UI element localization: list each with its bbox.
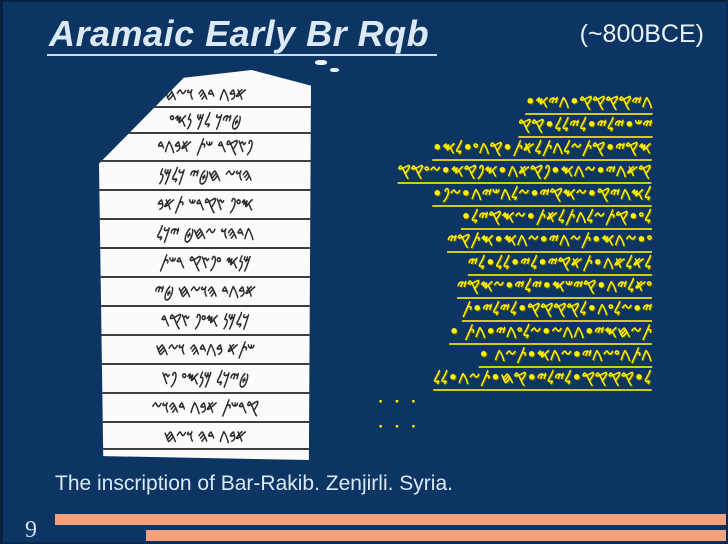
transcription-line: •𐤋𐤎𐤂𐤉𐤒•𐤆𐤎𐤒𐤉•𐤆𐤋𐤂𐤔𐤉𐤂•𐤆𐤐 (234, 182, 654, 205)
transcription-line: 𐤉•𐤆𐤋𐤏𐤂•𐤋𐤒𐤒𐤒𐤒•𐤋𐤉𐤋𐤉•𐤕 (234, 297, 654, 320)
transcription-line: •𐤂𐤉𐤒𐤒𐤒𐤒•𐤂𐤉𐤎 (234, 90, 654, 113)
transcription-text: 𐤒𐤀𐤂𐤉•𐤆𐤂𐤎•𐤐𐤒𐤀𐤂•𐤎𐤐𐤒𐤎•𐤆𐤏𐤒𐤒 (398, 159, 652, 184)
footer-accent-bar-bottom (146, 530, 726, 541)
transcription-ellipsis: · · · (234, 414, 654, 439)
transcription-text: •𐤂𐤉𐤒𐤒𐤒𐤒•𐤂𐤉𐤎 (525, 90, 652, 115)
transcription-text: • 𐤂𐤕𐤂𐤏𐤆𐤂𐤉•𐤆𐤂𐤎•𐤕𐤆𐤂 (479, 343, 652, 368)
transcription-text: 𐤉𐤔•𐤉𐤋𐤉•𐤋𐤉𐤋𐤋•𐤒𐤒 (518, 113, 652, 138)
transcription-text: •𐤋𐤏•𐤒𐤕𐤆𐤋𐤂𐤕𐤋𐤀𐤕•𐤆𐤎𐤒𐤉𐤋 (461, 205, 652, 230)
transcription-line: •𐤎𐤒𐤉•𐤒𐤕𐤆𐤋𐤂𐤕𐤋𐤀𐤕•𐤒𐤂𐤏•𐤋𐤎 (234, 136, 654, 159)
image-caption: The inscription of Bar-Rakib. Zenjirli. … (55, 472, 453, 496)
transcription-block: •𐤂𐤉𐤒𐤒𐤒𐤒•𐤂𐤉𐤎 𐤉𐤔•𐤉𐤋𐤉•𐤋𐤉𐤋𐤋•𐤒𐤒 •𐤎𐤒𐤉•𐤒𐤕𐤆𐤋𐤂𐤕𐤋𐤀… (234, 90, 654, 439)
transcription-text: 𐤋𐤀𐤋𐤀𐤂•𐤕𐤀𐤒𐤉•𐤋𐤉•𐤋𐤋•𐤋𐤉 (468, 251, 652, 276)
page-number: 9 (25, 517, 37, 544)
transcription-line: 𐤉𐤔•𐤉𐤋𐤉•𐤋𐤉𐤋𐤋•𐤒𐤒 (234, 113, 654, 136)
transcription-text: 𐤏𐤀𐤋𐤉𐤂•𐤒𐤉𐤔𐤎•𐤉𐤋𐤉•𐤆𐤎𐤒𐤉 (457, 274, 652, 299)
slide-canvas: Aramaic Early Br Rqb (~800BCE) 𐤀𐤁𐤂 𐤃𐤄 𐤅𐤆… (0, 0, 728, 544)
transcription-text: • 𐤕𐤆𐤇𐤎𐤉•𐤂𐤂𐤆•𐤆𐤋𐤏𐤂𐤉•𐤂𐤕 (449, 320, 652, 345)
transcription-line: 𐤒𐤀𐤂𐤉•𐤆𐤂𐤎•𐤐𐤒𐤀𐤂•𐤎𐤐𐤒𐤎•𐤆𐤏𐤒𐤒 (234, 159, 654, 182)
transcription-text: 𐤋•𐤒𐤒𐤒𐤒•𐤋𐤉𐤋𐤉•𐤒𐤇•𐤕𐤆𐤂•𐤋𐤋 (434, 366, 652, 391)
transcription-line: • 𐤕𐤆𐤇𐤎𐤉•𐤂𐤂𐤆•𐤆𐤋𐤏𐤂𐤉•𐤂𐤕 (234, 320, 654, 343)
date-annotation: (~800BCE) (580, 20, 704, 49)
stele-rule (99, 448, 311, 450)
page-title: Aramaic Early Br Rqb (49, 13, 429, 55)
transcription-line: •𐤋𐤏•𐤒𐤕𐤆𐤋𐤂𐤕𐤋𐤀𐤕•𐤆𐤎𐤒𐤉𐤋 (234, 205, 654, 228)
image-artifact-speck (315, 60, 327, 65)
image-artifact-speck (330, 68, 339, 72)
transcription-line: 𐤋•𐤒𐤒𐤒𐤒•𐤋𐤉𐤋𐤉•𐤒𐤇•𐤕𐤆𐤂•𐤋𐤋 (234, 366, 654, 389)
transcription-text: •𐤎𐤒𐤉•𐤒𐤕𐤆𐤋𐤂𐤕𐤋𐤀𐤕•𐤒𐤂𐤏•𐤋𐤎 (433, 136, 652, 161)
transcription-ellipsis: · · · (234, 389, 654, 414)
transcription-line: 𐤋𐤀𐤋𐤀𐤂•𐤕𐤀𐤒𐤉•𐤋𐤉•𐤋𐤋•𐤋𐤉 (234, 251, 654, 274)
transcription-line: 𐤏𐤀𐤋𐤉𐤂•𐤒𐤉𐤔𐤎•𐤉𐤋𐤉•𐤆𐤎𐤒𐤉 (234, 274, 654, 297)
transcription-text: •𐤋𐤎𐤂𐤉𐤒•𐤆𐤎𐤒𐤉•𐤆𐤋𐤂𐤔𐤉𐤂•𐤆𐤐 (433, 182, 652, 207)
transcription-line: 𐤏•𐤆𐤂𐤎•𐤕𐤆𐤂𐤉•𐤆𐤂𐤎•𐤎𐤕𐤒𐤉 (234, 228, 654, 251)
title-underline (47, 54, 437, 56)
transcription-text: 𐤏•𐤆𐤂𐤎•𐤕𐤆𐤂𐤉•𐤆𐤂𐤎•𐤎𐤕𐤒𐤉 (447, 228, 652, 253)
transcription-line: • 𐤂𐤕𐤂𐤏𐤆𐤂𐤉•𐤆𐤂𐤎•𐤕𐤆𐤂 (234, 343, 654, 366)
transcription-text: 𐤉•𐤆𐤋𐤏𐤂•𐤋𐤒𐤒𐤒𐤒•𐤋𐤉𐤋𐤉•𐤕 (462, 297, 652, 322)
footer-accent-bar-top (55, 514, 726, 525)
